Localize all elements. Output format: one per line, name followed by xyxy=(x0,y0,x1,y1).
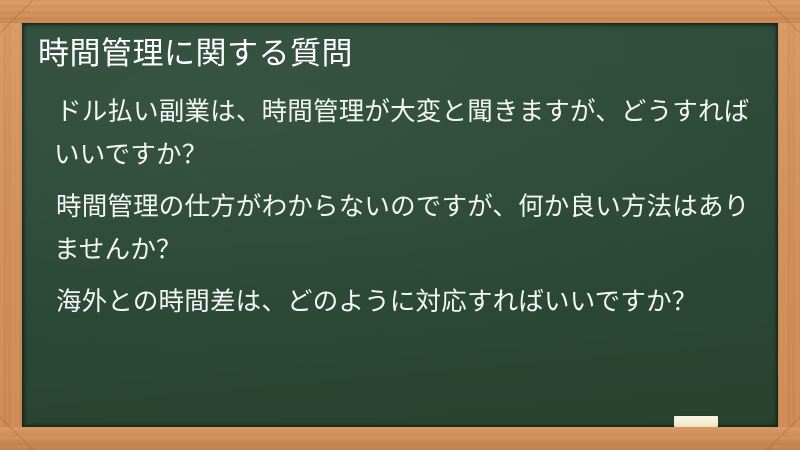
frame-rail-top xyxy=(0,0,800,23)
chalkboard-slide: 時間管理に関する質問 ドル払い副業は、時間管理が大変と聞きますが、どうすればいい… xyxy=(0,0,800,450)
board-content: 時間管理に関する質問 ドル払い副業は、時間管理が大変と聞きますが、どうすればいい… xyxy=(22,23,778,427)
list-item: ドル払い副業は、時間管理が大変と聞きますが、どうすればいいですか？ xyxy=(32,91,760,177)
chalk-stick xyxy=(674,416,718,427)
question-list: ドル払い副業は、時間管理が大変と聞きますが、どうすればいいですか？ 時間管理の仕… xyxy=(32,91,760,324)
slide-title: 時間管理に関する質問 xyxy=(32,31,760,77)
chalkboard-surface: 時間管理に関する質問 ドル払い副業は、時間管理が大変と聞きますが、どうすればいい… xyxy=(22,23,778,427)
list-item: 時間管理の仕方がわからないのですが、何か良い方法はありませんか？ xyxy=(32,186,760,272)
list-item: 海外との時間差は、どのように対応すればいいですか？ xyxy=(32,281,760,324)
frame-rail-bottom-ledge xyxy=(0,427,800,450)
